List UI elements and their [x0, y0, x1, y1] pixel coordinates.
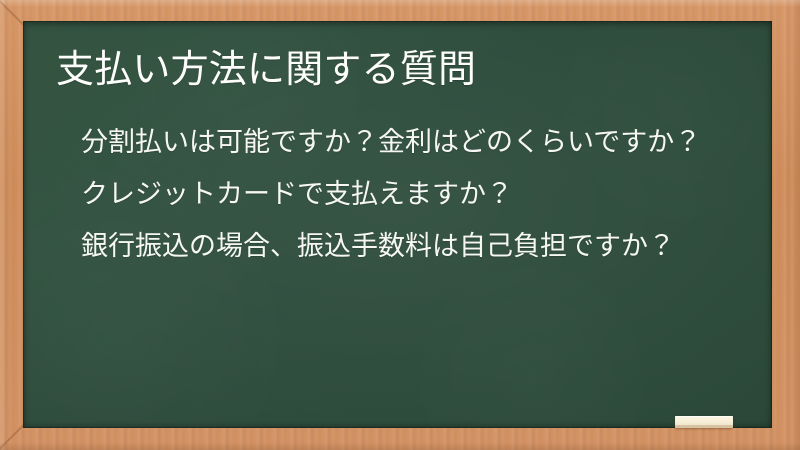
slide-content: 支払い方法に関する質問 分割払いは可能ですか？金利はどのくらいですか？ クレジッ…: [23, 21, 772, 428]
chalkboard-slide: 支払い方法に関する質問 分割払いは可能ですか？金利はどのくらいですか？ クレジッ…: [0, 0, 800, 450]
slide-title: 支払い方法に関する質問: [56, 50, 476, 88]
question-item: 銀行振込の場合、振込手数料は自己負担ですか？: [81, 229, 769, 264]
question-list: 分割払いは可能ですか？金利はどのくらいですか？ クレジットカードで支払えますか？…: [81, 125, 769, 264]
chalk-eraser-icon: [675, 416, 733, 428]
chalkboard-surface: 支払い方法に関する質問 分割払いは可能ですか？金利はどのくらいですか？ クレジッ…: [23, 21, 772, 428]
eraser-felt: [675, 425, 733, 428]
question-item: クレジットカードで支払えますか？: [81, 177, 769, 212]
question-item: 分割払いは可能ですか？金利はどのくらいですか？: [81, 125, 769, 160]
